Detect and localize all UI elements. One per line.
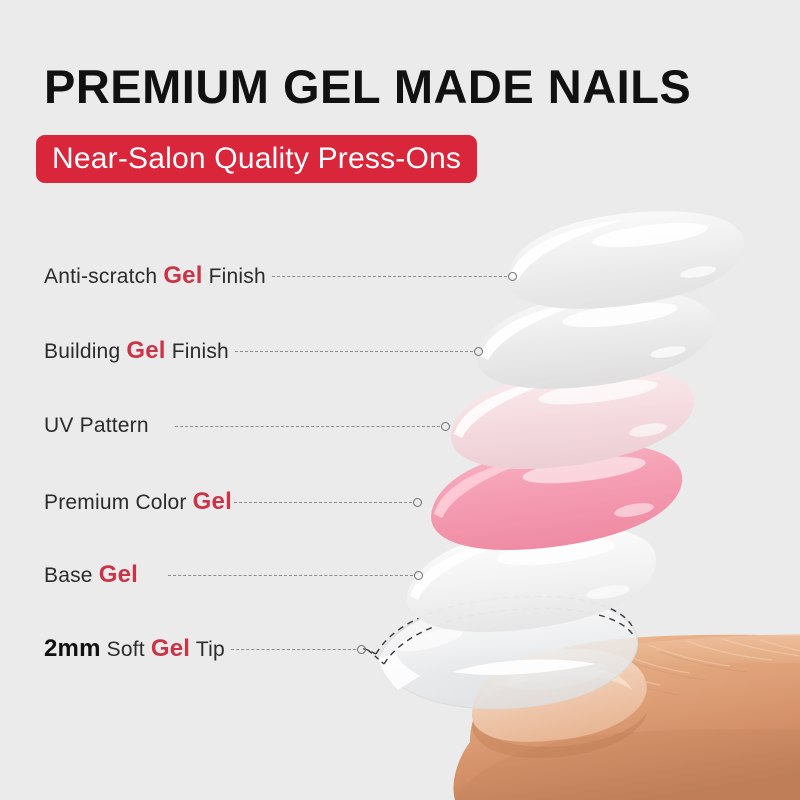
leader-endpoint-dot bbox=[413, 498, 422, 507]
callout-label: Anti-scratch Gel Finish bbox=[44, 262, 266, 290]
layer-premium-color-gel bbox=[431, 444, 682, 550]
leader-line-group bbox=[272, 272, 517, 281]
nail-layer-stack-illustration bbox=[0, 0, 800, 800]
leader-line-group bbox=[235, 347, 483, 356]
callout-label: Building Gel Finish bbox=[44, 337, 229, 365]
leader-line-group bbox=[231, 645, 366, 654]
layer-base-gel bbox=[407, 526, 656, 632]
layer-anti-scratch-gel-finish bbox=[507, 211, 744, 309]
callout-base-gel: Base Gel bbox=[44, 560, 423, 590]
callout-label: Premium Color Gel bbox=[44, 488, 232, 516]
leader-endpoint-dot bbox=[474, 347, 483, 356]
leader-dashed-line bbox=[234, 502, 412, 503]
callout-anti-scratch-gel-finish: Anti-scratch Gel Finish bbox=[44, 261, 517, 291]
fingertip-illustration bbox=[453, 634, 800, 800]
leader-line-group bbox=[234, 498, 422, 507]
callout-label: Base Gel bbox=[44, 561, 138, 589]
callout-premium-color-gel: Premium Color Gel bbox=[44, 487, 422, 517]
leader-endpoint-dot bbox=[508, 272, 517, 281]
subtitle-badge: Near-Salon Quality Press-Ons bbox=[36, 135, 477, 183]
leader-dashed-line bbox=[168, 575, 413, 576]
leader-dashed-line bbox=[175, 426, 440, 427]
leader-line-group bbox=[168, 571, 423, 580]
callout-label: UV Pattern bbox=[44, 414, 149, 438]
page-title: PREMIUM GEL MADE NAILS bbox=[44, 62, 691, 111]
leader-endpoint-dot bbox=[441, 422, 450, 431]
leader-dashed-line bbox=[272, 276, 507, 277]
callout-uv-pattern: UV Pattern bbox=[44, 411, 450, 441]
leader-dashed-line bbox=[235, 351, 473, 352]
gel-tip-shell bbox=[360, 596, 637, 708]
leader-endpoint-dot bbox=[414, 571, 423, 580]
subtitle-badge-label: Near-Salon Quality Press-Ons bbox=[52, 142, 461, 176]
leader-line-group bbox=[175, 422, 450, 431]
layer-soft-gel-tip bbox=[375, 646, 635, 698]
callout-label: 2mm Soft Gel Tip bbox=[44, 635, 225, 663]
callout-soft-gel-tip: 2mm Soft Gel Tip bbox=[44, 634, 366, 664]
leader-dashed-line bbox=[231, 649, 356, 650]
layer-uv-pattern bbox=[451, 368, 694, 469]
infographic-canvas: PREMIUM GEL MADE NAILS Near-Salon Qualit… bbox=[0, 0, 800, 800]
layer-building-gel-finish bbox=[477, 291, 714, 389]
callout-building-gel-finish: Building Gel Finish bbox=[44, 336, 483, 366]
leader-endpoint-dot bbox=[357, 645, 366, 654]
